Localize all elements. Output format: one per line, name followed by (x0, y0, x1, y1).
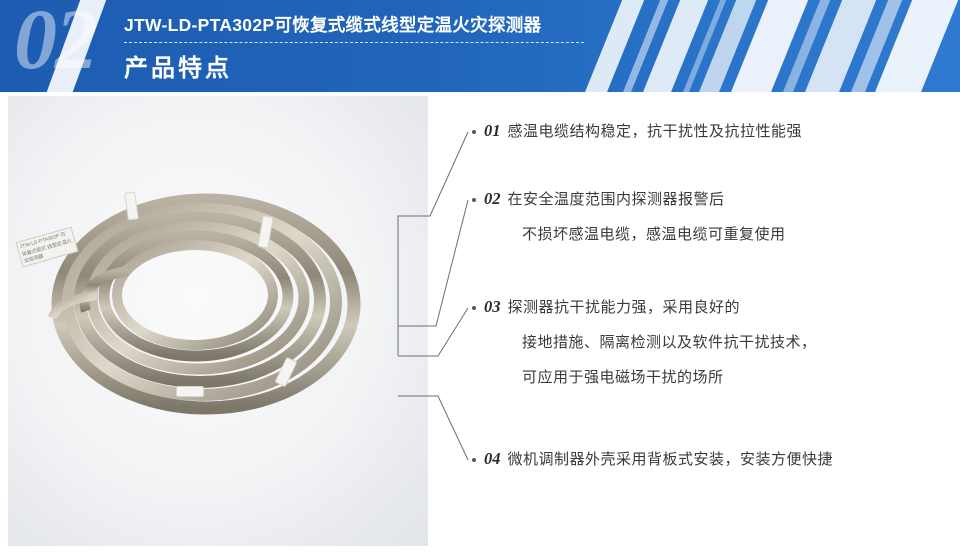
bullet-dot (472, 198, 476, 202)
feature-item-03: 03探测器抗干扰能力强，采用良好的 接地措施、隔离检测以及软件抗干扰技术， 可应… (484, 296, 817, 387)
feature-text: 微机调制器外壳采用背板式安装，安装方便快捷 (508, 451, 834, 468)
page-header: 02 JTW-LD-PTA302P可恢复式缆式线型定温火灾探测器 产品特点 (0, 0, 960, 92)
cable-tie (176, 386, 204, 397)
feature-list: 01感温电缆结构稳定，抗干扰性及抗拉性能强 02在安全温度范围内探测器报警后 不… (390, 96, 960, 546)
feature-text-line-3: 可应用于强电磁场干扰的场所 (522, 366, 817, 387)
feature-text: 感温电缆结构稳定，抗干扰性及抗拉性能强 (508, 123, 803, 140)
feature-text: 探测器抗干扰能力强，采用良好的 (508, 299, 741, 316)
product-photo: JTW-LD-PTA302P 可恢复式缆式 线型定温火灾探测器 (8, 96, 428, 546)
feature-item-02: 02在安全温度范围内探测器报警后 不损坏感温电缆，感温电缆可重复使用 (484, 188, 786, 244)
bullet-dot (472, 306, 476, 310)
feature-text-line-2: 接地措施、隔离检测以及软件抗干扰技术， (522, 331, 817, 352)
bullet-dot (472, 458, 476, 462)
header-divider (124, 42, 584, 43)
feature-number: 03 (484, 297, 501, 316)
feature-number: 04 (484, 449, 501, 468)
feature-number: 02 (484, 189, 501, 208)
header-title-section: 产品特点 (124, 48, 232, 83)
feature-item-04: 04微机调制器外壳采用背板式安装，安装方便快捷 (484, 448, 833, 469)
feature-number: 01 (484, 121, 501, 140)
feature-text: 在安全温度范围内探测器报警后 (508, 191, 725, 208)
header-title-model: JTW-LD-PTA302P可恢复式缆式线型定温火灾探测器 (124, 12, 541, 37)
feature-item-01: 01感温电缆结构稳定，抗干扰性及抗拉性能强 (484, 120, 802, 141)
bullet-dot (472, 130, 476, 134)
feature-text-line-2: 不损坏感温电缆，感温电缆可重复使用 (522, 223, 786, 244)
